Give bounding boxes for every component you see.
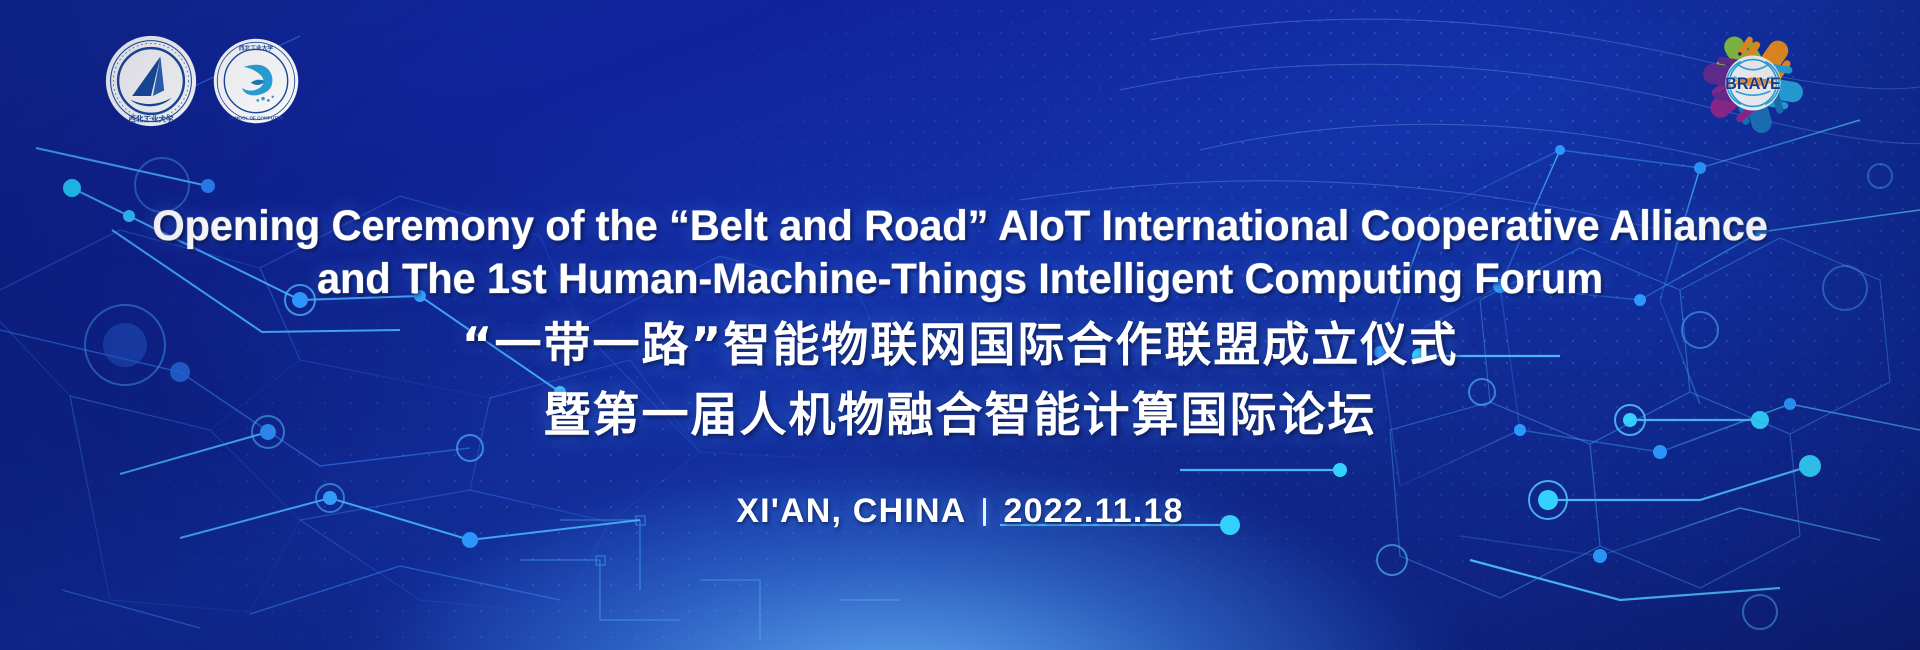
english-title-line-2: and The 1st Human-Machine-Things Intelli… bbox=[29, 258, 1891, 301]
event-location: XI'AN, CHINA bbox=[736, 492, 966, 531]
npu-logo: 西北工业大学 bbox=[104, 34, 198, 133]
meta-separator bbox=[983, 498, 986, 526]
english-title-line-1: Opening Ceremony of the “Belt and Road” … bbox=[29, 205, 1891, 248]
chinese-title-line-2: 暨第一届人机物融合智能计算国际论坛 bbox=[0, 392, 1920, 439]
event-date: 2022.11.18 bbox=[1003, 492, 1183, 531]
brave-wordmark: BRAVE bbox=[1725, 75, 1781, 93]
npu-seal-icon: 西北工业大学 bbox=[104, 34, 198, 128]
event-meta: XI'AN, CHINA 2022.11.18 bbox=[0, 492, 1920, 531]
brave-logo: BRAVE bbox=[1690, 28, 1816, 145]
conference-banner: 西北工业大学 西北工业大学 SCHOOL OF COMPUTER bbox=[0, 0, 1920, 650]
brave-hands-globe-icon: BRAVE bbox=[1690, 28, 1816, 140]
svg-text:SCHOOL OF COMPUTER: SCHOOL OF COMPUTER bbox=[229, 116, 284, 121]
school-of-computer-science-logo: 西北工业大学 SCHOOL OF COMPUTER bbox=[212, 37, 300, 130]
scs-seal-icon: 西北工业大学 SCHOOL OF COMPUTER bbox=[212, 37, 300, 125]
svg-text:西北工业大学: 西北工业大学 bbox=[128, 113, 174, 123]
svg-text:西北工业大学: 西北工业大学 bbox=[239, 44, 274, 52]
left-logo-group: 西北工业大学 西北工业大学 SCHOOL OF COMPUTER bbox=[104, 34, 300, 133]
chinese-title-line-1: “一带一路”智能物联网国际合作联盟成立仪式 bbox=[0, 322, 1920, 369]
